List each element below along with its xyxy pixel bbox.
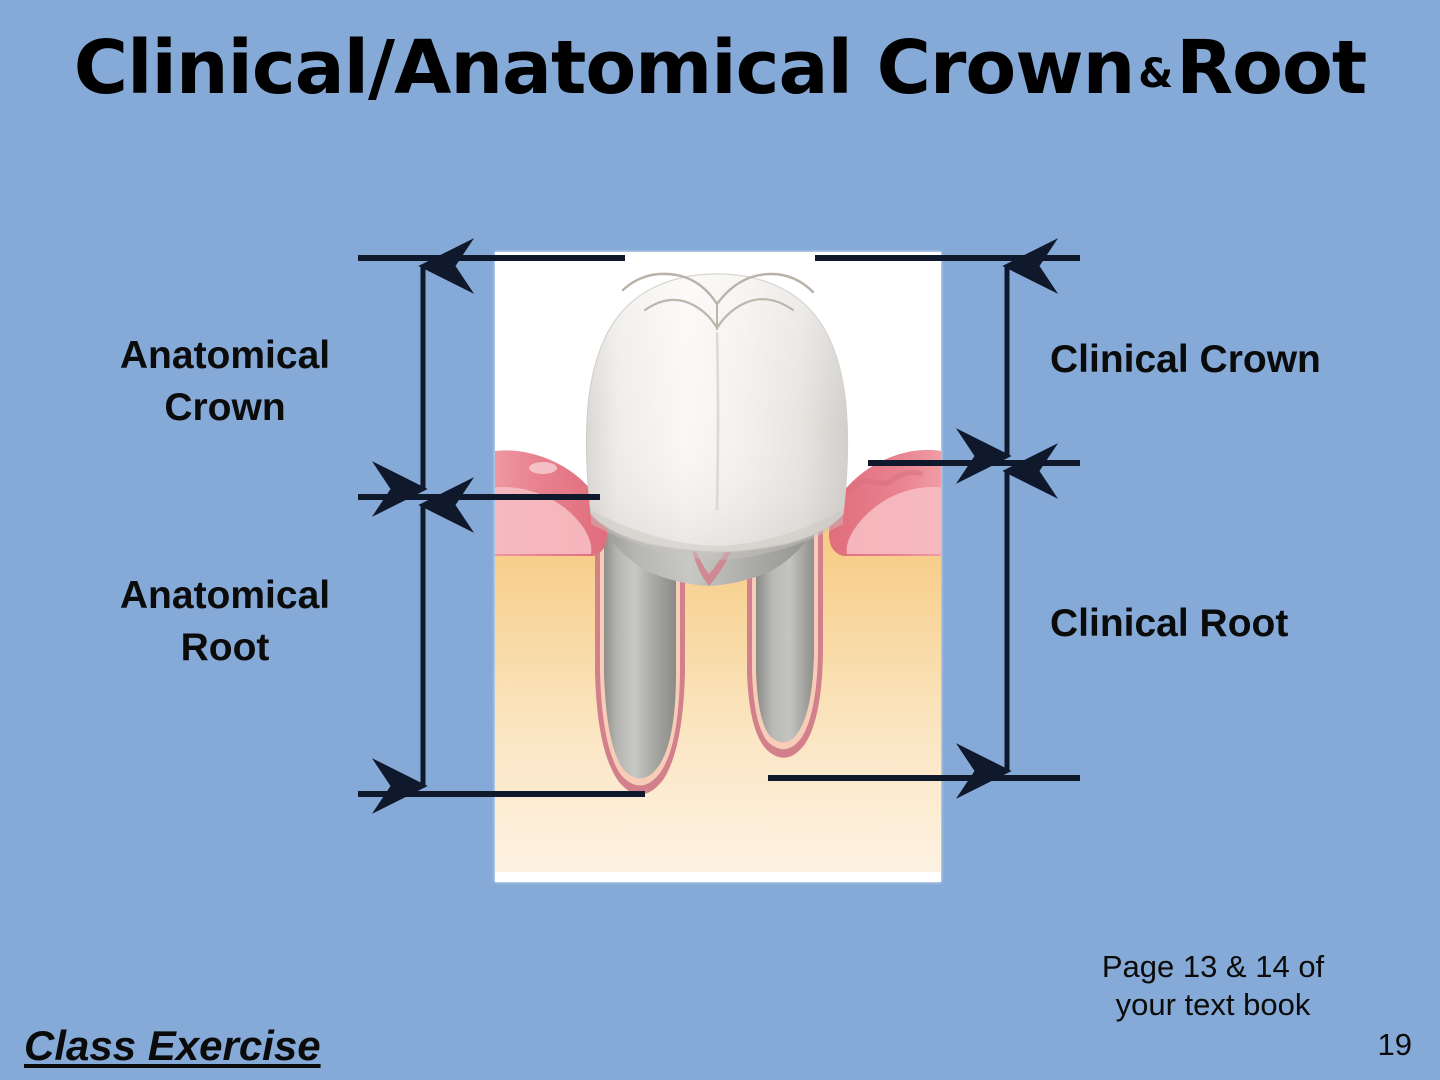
label-anatomical-root: Anatomical Root [60, 570, 390, 674]
title-ampersand: & [1134, 51, 1176, 97]
slide-number: 19 [1378, 1026, 1412, 1064]
class-exercise-note: Class Exercise [24, 1021, 321, 1071]
tooth-illustration [495, 252, 941, 882]
slide-canvas: Clinical/Anatomical Crown&Root [0, 0, 1440, 1080]
page-title: Clinical/Anatomical Crown&Root [0, 22, 1440, 120]
label-anatomical-crown: Anatomical Crown [60, 330, 390, 434]
label-anatomical-root-line2: Root [60, 622, 390, 674]
label-anatomical-crown-line2: Crown [60, 382, 390, 434]
label-anatomical-crown-line1: Anatomical [60, 330, 390, 382]
textbook-page-reference: Page 13 & 14 of your text book [1048, 948, 1378, 1024]
tooth-diagram-panel [495, 252, 941, 882]
page-reference-line2: your text book [1048, 986, 1378, 1024]
title-main-text: Clinical/Anatomical Crown [74, 25, 1134, 111]
title-tail-text: Root [1176, 25, 1366, 111]
label-clinical-crown: Clinical Crown [1050, 334, 1410, 386]
page-reference-line1: Page 13 & 14 of [1048, 948, 1378, 986]
label-clinical-root: Clinical Root [1050, 598, 1410, 650]
label-anatomical-root-line1: Anatomical [60, 570, 390, 622]
